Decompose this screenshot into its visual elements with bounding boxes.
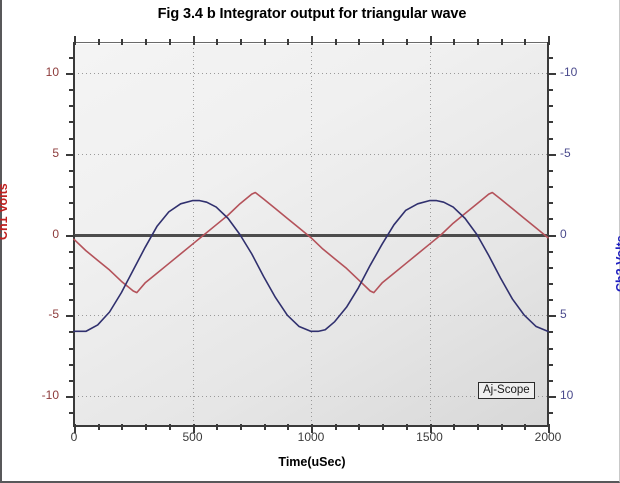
x-tick-minor: [501, 39, 503, 45]
x-tick-minor: [406, 39, 408, 45]
x-tick-minor: [358, 424, 360, 430]
y-tick-minor: [69, 138, 75, 140]
y-tick-minor: [547, 170, 553, 172]
y-axis-left-tick-label: -5: [25, 307, 59, 321]
y-tick-major: [66, 154, 75, 156]
y-tick-minor: [547, 364, 553, 366]
y-tick-minor: [69, 364, 75, 366]
y-tick-minor: [69, 186, 75, 188]
y-tick-minor: [547, 202, 553, 204]
x-tick-minor: [145, 39, 147, 45]
y-tick-minor: [69, 89, 75, 91]
y-tick-minor: [69, 412, 75, 414]
y-tick-minor: [69, 170, 75, 172]
chart-window: Fig 3.4 b Integrator output for triangul…: [0, 0, 620, 483]
y-tick-minor: [547, 89, 553, 91]
y-tick-minor: [69, 202, 75, 204]
y-tick-minor: [69, 331, 75, 333]
y-tick-minor: [69, 251, 75, 253]
scope-watermark-badge: Aj-Scope: [478, 382, 535, 399]
x-tick-minor: [121, 424, 123, 430]
x-tick-major: [193, 36, 195, 45]
x-tick-major: [311, 36, 313, 45]
y-tick-minor: [69, 267, 75, 269]
x-tick-minor: [169, 39, 171, 45]
x-tick-minor: [524, 39, 526, 45]
y-axis-left-title: Ch1 Volts: [0, 183, 10, 240]
x-axis-tick-label: 0: [44, 430, 104, 444]
y-tick-minor: [547, 412, 553, 414]
y-tick-minor: [547, 380, 553, 382]
y-axis-left-tick-label: 0: [25, 227, 59, 241]
y-tick-major: [66, 315, 75, 317]
page-title: Fig 3.4 b Integrator output for triangul…: [2, 6, 620, 22]
x-tick-minor: [216, 39, 218, 45]
x-tick-minor: [335, 39, 337, 45]
y-axis-right-tick-label: 10: [560, 388, 600, 402]
y-axis-left-tick-label: 5: [25, 146, 59, 160]
y-tick-minor: [69, 218, 75, 220]
x-tick-minor: [240, 39, 242, 45]
y-tick-minor: [547, 299, 553, 301]
y-tick-major: [66, 73, 75, 75]
x-tick-minor: [382, 424, 384, 430]
y-tick-minor: [69, 380, 75, 382]
y-tick-minor: [547, 105, 553, 107]
zero-reference-line: [74, 234, 548, 237]
y-tick-minor: [547, 283, 553, 285]
x-tick-minor: [121, 39, 123, 45]
y-tick-major: [547, 235, 556, 237]
y-tick-minor: [69, 121, 75, 123]
y-tick-minor: [69, 57, 75, 59]
x-tick-minor: [477, 39, 479, 45]
y-tick-minor: [69, 348, 75, 350]
y-tick-major: [66, 396, 75, 398]
y-axis-right-title: Ch2 Volts: [614, 235, 620, 292]
x-tick-minor: [240, 424, 242, 430]
x-tick-minor: [264, 424, 266, 430]
y-axis-right-tick-label: 5: [560, 307, 600, 321]
y-axis-right-tick-label: 0: [560, 227, 600, 241]
y-axis-left-tick-label: 10: [25, 65, 59, 79]
y-tick-minor: [69, 283, 75, 285]
x-tick-minor: [287, 39, 289, 45]
x-tick-major: [430, 36, 432, 45]
x-axis-tick-label: 500: [163, 430, 223, 444]
x-tick-minor: [264, 39, 266, 45]
y-axis-left-tick-label: -10: [25, 388, 59, 402]
x-tick-minor: [98, 39, 100, 45]
y-tick-minor: [547, 331, 553, 333]
y-tick-minor: [547, 251, 553, 253]
y-axis-right-tick-label: -5: [560, 146, 600, 160]
x-tick-minor: [453, 39, 455, 45]
y-tick-major: [547, 73, 556, 75]
y-tick-minor: [547, 57, 553, 59]
x-axis-title: Time(uSec): [2, 455, 620, 469]
y-tick-minor: [547, 348, 553, 350]
y-tick-minor: [69, 299, 75, 301]
x-axis-tick-label: 2000: [518, 430, 578, 444]
y-tick-major: [547, 154, 556, 156]
x-axis-tick-label: 1000: [281, 430, 341, 444]
x-tick-major: [548, 36, 550, 45]
y-tick-minor: [547, 218, 553, 220]
y-tick-major: [66, 235, 75, 237]
x-tick-minor: [382, 39, 384, 45]
y-tick-minor: [547, 186, 553, 188]
y-tick-minor: [547, 138, 553, 140]
y-tick-major: [547, 315, 556, 317]
y-tick-major: [547, 396, 556, 398]
y-tick-minor: [547, 121, 553, 123]
x-tick-minor: [145, 424, 147, 430]
y-tick-minor: [69, 105, 75, 107]
y-tick-minor: [547, 267, 553, 269]
y-axis-right-tick-label: -10: [560, 65, 600, 79]
x-axis-tick-label: 1500: [400, 430, 460, 444]
x-tick-minor: [477, 424, 479, 430]
x-tick-minor: [501, 424, 503, 430]
x-tick-major: [74, 36, 76, 45]
x-tick-minor: [358, 39, 360, 45]
